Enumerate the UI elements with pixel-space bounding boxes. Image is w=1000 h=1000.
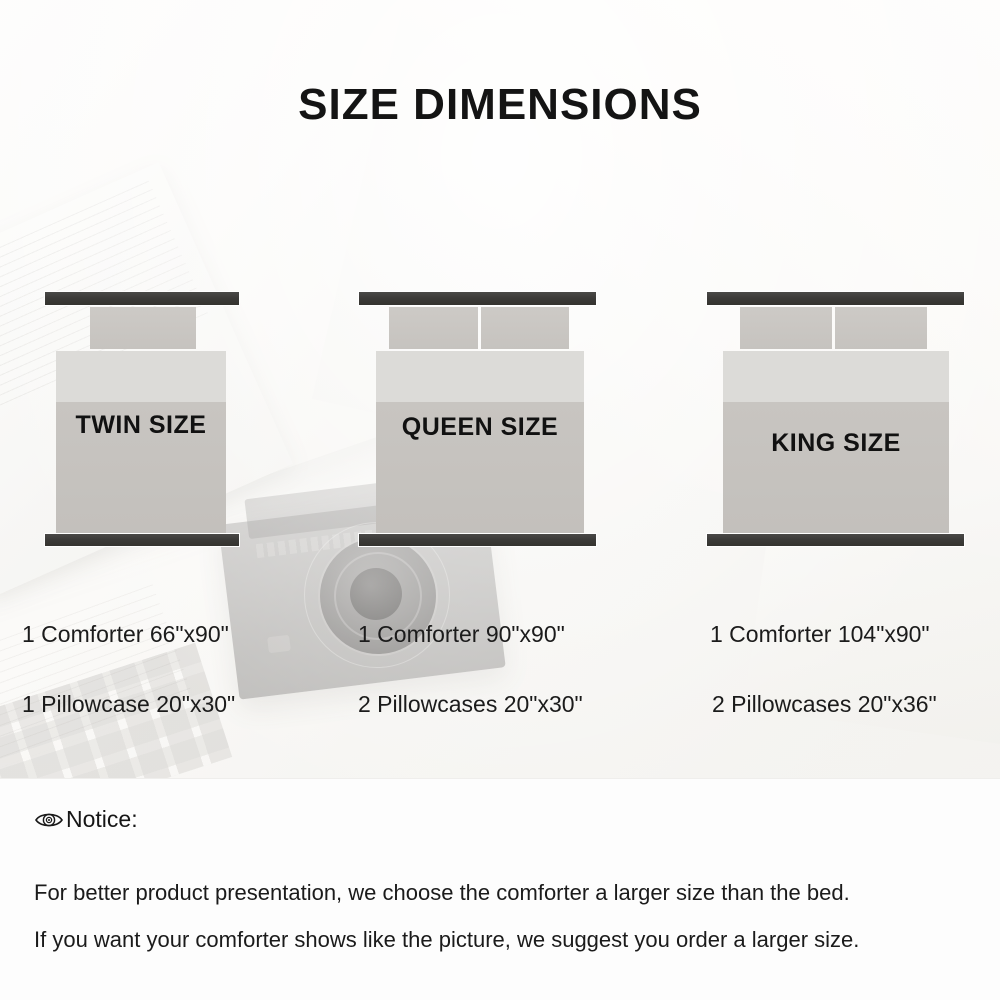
size-dimensions-infographic: SIZE DIMENSIONS TWIN SIZE QUEEN SIZE KIN… — [0, 0, 1000, 1000]
bed-diagram-king: KING SIZE — [0, 0, 1000, 1000]
queen-pillowcase-spec: 2 Pillowcases 20"x30" — [358, 691, 583, 718]
page-title: SIZE DIMENSIONS — [0, 80, 1000, 130]
king-bed-label: KING SIZE — [723, 429, 949, 458]
king-pillowcase-spec: 2 Pillowcases 20"x36" — [712, 691, 937, 718]
king-headboard — [706, 291, 965, 306]
king-pillow-1 — [740, 307, 832, 349]
twin-comforter-spec: 1 Comforter 66"x90" — [22, 621, 229, 648]
twin-pillowcase-spec: 1 Pillowcase 20"x30" — [22, 691, 235, 718]
queen-comforter-spec: 1 Comforter 90"x90" — [358, 621, 565, 648]
king-comforter-spec: 1 Comforter 104"x90" — [710, 621, 930, 648]
king-footboard — [706, 533, 965, 547]
king-pillow-2 — [835, 307, 927, 349]
king-bed-body: KING SIZE — [723, 351, 949, 533]
